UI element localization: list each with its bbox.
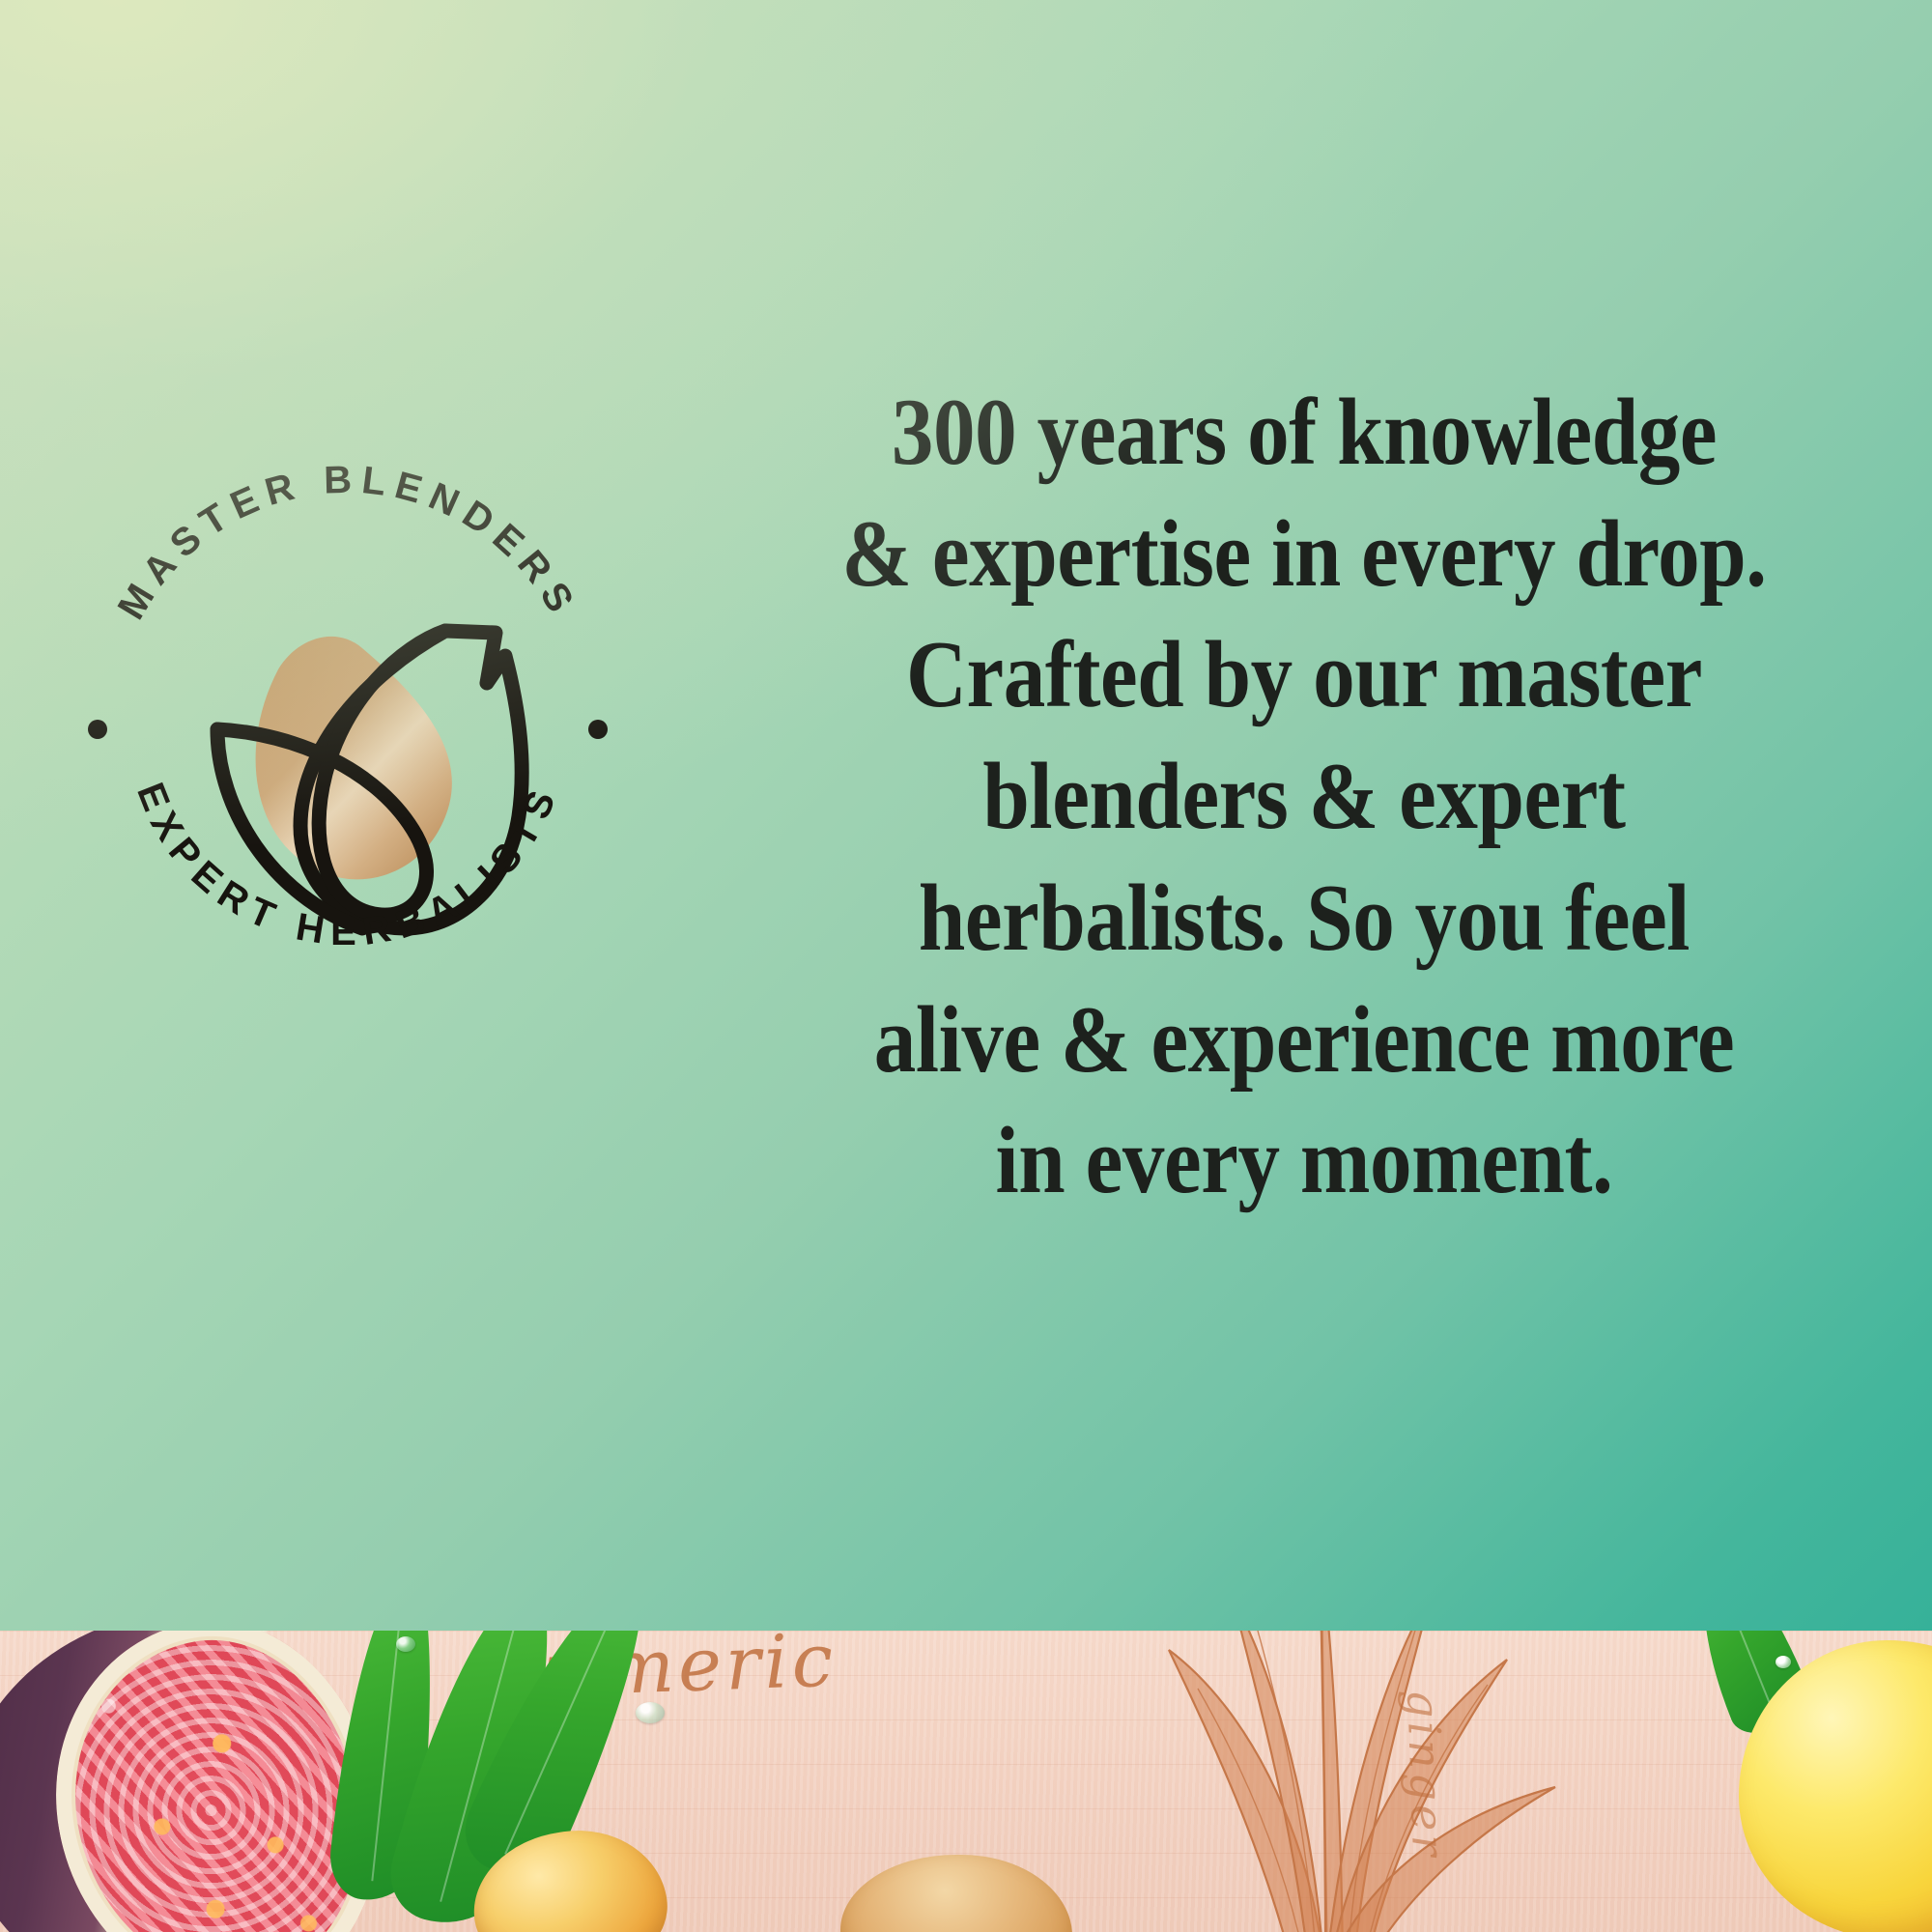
script-label-ginger: ginger: [1397, 1689, 1455, 1861]
green-gradient-panel: MASTER BLENDERS EXPERT HERBALISTS 300 ye…: [0, 0, 1932, 1631]
master-blenders-badge: MASTER BLENDERS EXPERT HERBALISTS: [72, 449, 623, 1000]
ingredient-photo-strip: turmeric ginger: [0, 1631, 1932, 1932]
copy-line-6: alive & experience more: [811, 980, 1798, 1101]
copy-line-2: & expertise in every drop.: [811, 494, 1798, 615]
copy-line-1: 300 years of knowledge: [811, 372, 1798, 494]
headline-copy: 300 years of knowledge & expertise in ev…: [811, 372, 1798, 1222]
copy-line-7: in every moment.: [811, 1100, 1798, 1222]
copy-line-5: herbalists. So you feel: [811, 858, 1798, 980]
copy-line-3: Crafted by our master: [811, 614, 1798, 736]
water-droplet: [396, 1636, 415, 1652]
badge-top-arc-text: MASTER BLENDERS: [110, 459, 586, 627]
ginger-root-piece: [840, 1855, 1072, 1932]
copy-line-4: blenders & expert: [811, 736, 1798, 858]
water-droplet: [1776, 1656, 1791, 1668]
promo-banner: MASTER BLENDERS EXPERT HERBALISTS 300 ye…: [0, 0, 1932, 1932]
water-droplet: [636, 1702, 665, 1723]
badge-dot-right: [588, 720, 608, 739]
botanical-sketch-illustration: [1053, 1631, 1594, 1932]
badge-dot-left: [88, 720, 107, 739]
